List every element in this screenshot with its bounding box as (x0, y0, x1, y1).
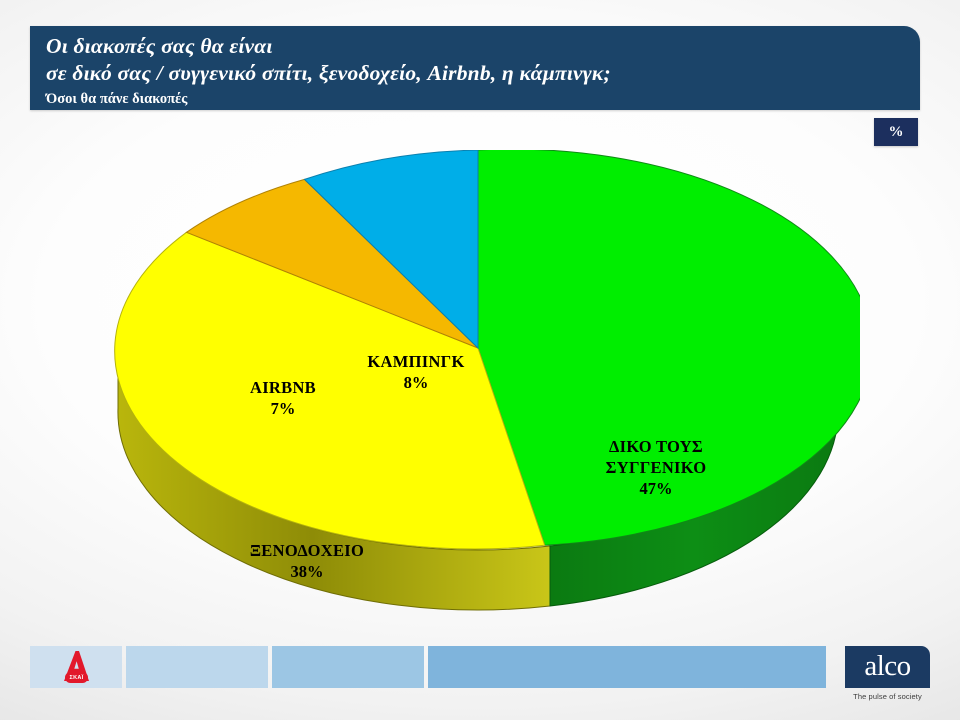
page-title-line-1: Οι διακοπές σας θα είναι (46, 33, 926, 60)
skai-badge: ΣΚΑΪ (65, 672, 88, 683)
alco-wordmark: alco (864, 652, 910, 681)
skai-a-icon: ΣΚΑΪ (61, 650, 91, 684)
skai-logo: ΣΚΑΪ (30, 646, 122, 688)
page-subtitle: Όσοι θα πάνε διακοπές (46, 89, 926, 109)
footer-block-4 (428, 646, 826, 688)
slide-root: Οι διακοπές σας θα είναι σε δικό σας / σ… (0, 0, 960, 720)
pie-chart: ΔΙΚΟ ΤΟΥΣ ΣΥΓΓΕΝΙΚΟ 47% ΞΕΝΟΔΟΧΕΙΟ 38% A… (0, 150, 960, 620)
percent-unit-badge: % (874, 118, 918, 146)
header-text-block: Οι διακοπές σας θα είναι σε δικό σας / σ… (46, 33, 926, 109)
alco-logo: alco The pulse of society (845, 646, 930, 701)
footer: ΣΚΑΪ alco The pulse of society (0, 646, 960, 696)
footer-block-2 (126, 646, 268, 688)
alco-tagline: The pulse of society (845, 692, 930, 701)
page-title-line-2: σε δικό σας / συγγενικό σπίτι, ξενοδοχεί… (46, 60, 926, 87)
pie-chart-svg (100, 150, 860, 620)
footer-block-3 (272, 646, 424, 688)
alco-logo-box: alco (845, 646, 930, 688)
